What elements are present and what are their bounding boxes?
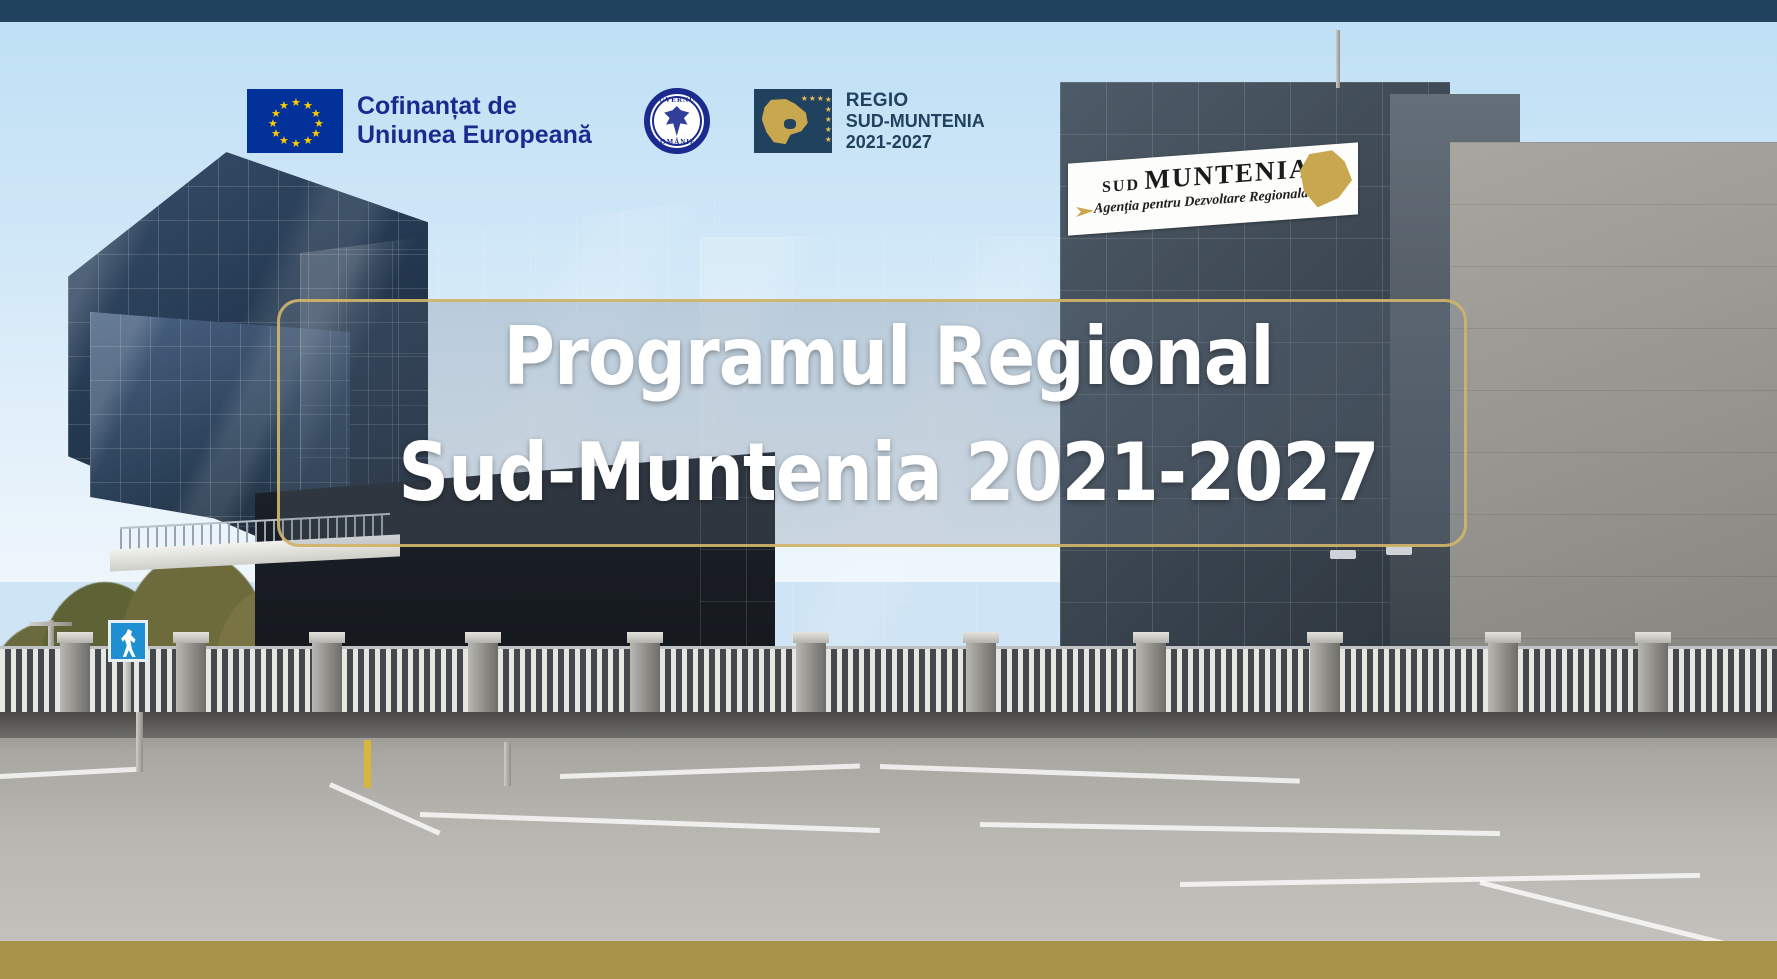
regio-star-icon: ★	[809, 95, 816, 103]
bollard	[364, 740, 371, 788]
wall-lamp	[1386, 546, 1412, 555]
title-line-2: Sud-Muntenia 2021-2027	[107, 415, 1671, 531]
eu-text-line-1: Cofinanțat de	[357, 92, 592, 121]
building-sign-prefix: SUD	[1102, 176, 1140, 196]
eu-star-icon: ★	[268, 119, 278, 130]
eu-star-icon: ★	[291, 139, 301, 150]
region-map-enclave	[784, 119, 796, 129]
eu-star-icon: ★	[303, 136, 313, 147]
wall-lamp	[1330, 550, 1356, 559]
guvernul-romaniei-seal-icon: GUVERNUL ROMÂNIEI	[644, 88, 710, 154]
regio-star-icon: ★	[825, 116, 832, 124]
regio-line-2: SUD-MUNTENIA	[846, 111, 985, 132]
regio-star-icon: ★	[817, 95, 824, 103]
european-union-flag-icon: ★ ★ ★ ★ ★ ★ ★ ★ ★ ★ ★ ★	[247, 89, 343, 153]
regio-line-3: 2021-2027	[846, 132, 985, 153]
eu-star-icon: ★	[279, 101, 289, 112]
bollard	[504, 742, 511, 786]
bollard	[136, 712, 143, 772]
regio-sud-muntenia-logo: ★ ★ ★ ★ ★ ★ ★ ★ REGIO SUD-MUNTENIA 2021-…	[754, 89, 985, 153]
top-navy-bar	[0, 0, 1777, 22]
regio-star-icon: ★	[825, 106, 832, 114]
eu-cofinancing-logo: ★ ★ ★ ★ ★ ★ ★ ★ ★ ★ ★ ★ Cofinanțat de Un…	[247, 89, 592, 153]
bottom-gold-bar	[0, 941, 1777, 979]
seal-bottom-text: ROMÂNIEI	[650, 138, 704, 146]
eu-cofinancing-text: Cofinanțat de Uniunea Europeană	[357, 92, 592, 150]
eu-star-icon: ★	[291, 98, 301, 109]
page-title: Programul Regional Sud-Muntenia 2021-202…	[107, 299, 1671, 531]
title-line-1: Programul Regional	[107, 299, 1671, 415]
pedestrian-crossing-sign	[108, 620, 148, 662]
sign-arrow-icon	[1076, 206, 1094, 217]
regio-mark-icon: ★ ★ ★ ★ ★ ★ ★ ★	[754, 89, 832, 153]
roof-antenna	[1336, 30, 1340, 88]
seal-top-text: GUVERNUL	[650, 96, 704, 104]
regio-star-icon: ★	[825, 136, 832, 144]
regio-star-icon: ★	[825, 126, 832, 134]
regio-star-icon: ★	[801, 95, 808, 103]
eu-star-icon: ★	[271, 129, 281, 140]
program-banner: SUD MUNTENIA Agenția pentru Dezvoltare R…	[0, 0, 1777, 979]
regio-line-1: REGIO	[846, 90, 985, 111]
regio-stars-group: ★ ★ ★ ★ ★ ★ ★ ★	[801, 95, 827, 147]
romanian-eagle-icon	[662, 106, 692, 136]
logo-row: ★ ★ ★ ★ ★ ★ ★ ★ ★ ★ ★ ★ Cofinanțat de Un…	[247, 88, 985, 154]
parking-lot-ground	[0, 712, 1777, 942]
regio-text-block: REGIO SUD-MUNTENIA 2021-2027	[846, 90, 985, 153]
eu-text-line-2: Uniunea Europeană	[357, 121, 592, 150]
regio-star-icon: ★	[825, 96, 832, 104]
